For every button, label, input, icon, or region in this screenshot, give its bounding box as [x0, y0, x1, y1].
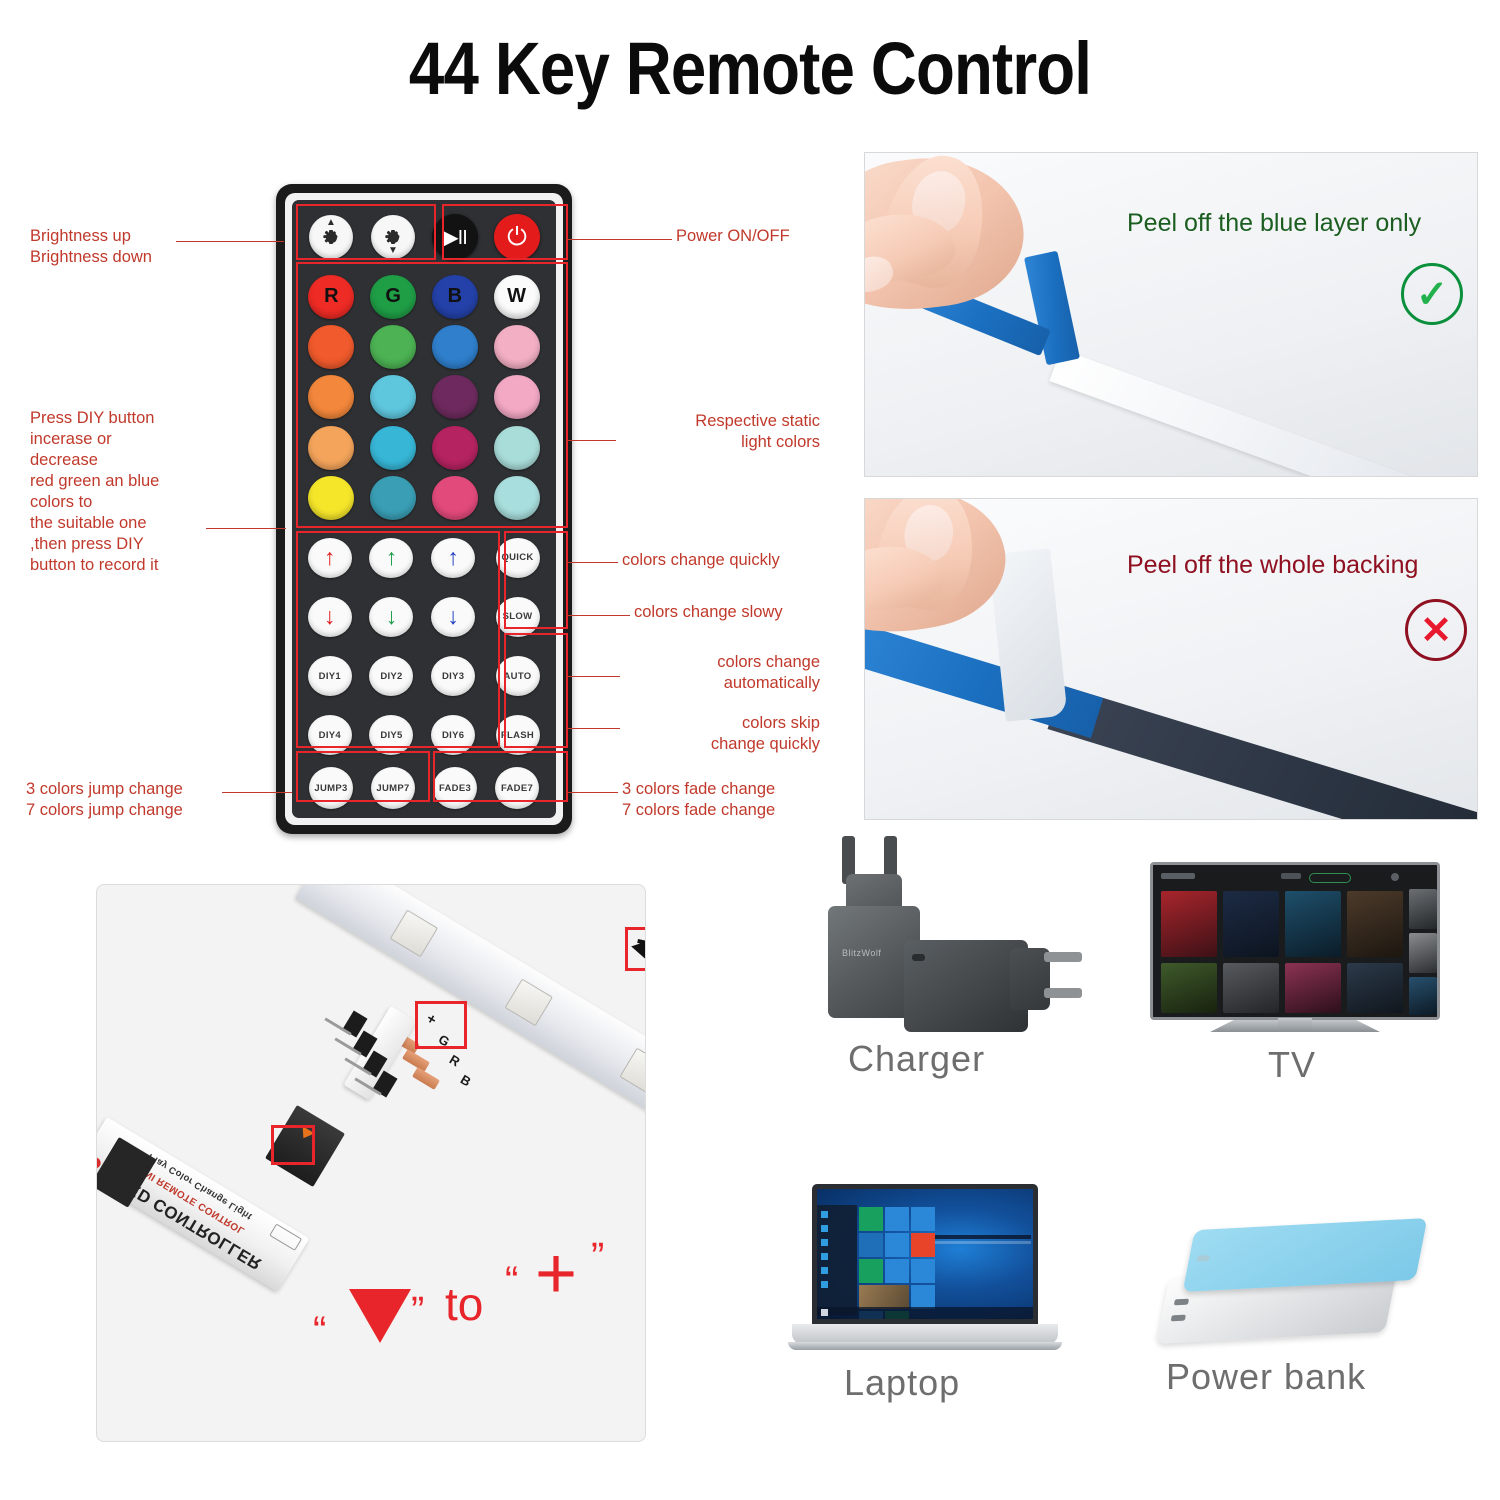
start-tile: [885, 1233, 909, 1257]
cross-icon: ✕: [1405, 599, 1467, 661]
function-button-diy6[interactable]: DIY6: [431, 715, 475, 755]
remote-bezel: ▲ ▼: [285, 193, 563, 825]
callout-auto: colors change automatically: [620, 652, 820, 694]
check-glyph: ✓: [1416, 272, 1448, 317]
function-area: ↑↑↑↓↓↓DIY1DIY2DIY3DIY4DIY5DIY6 QUICKSLOW…: [300, 526, 548, 764]
photo-bottom-caption: Peel off the whole backing: [1127, 551, 1418, 580]
color-button-label: G: [385, 285, 401, 308]
color-button-r5c2[interactable]: [370, 476, 416, 520]
start-menu-left-rail: [817, 1205, 857, 1315]
triangle-down-icon: [349, 1289, 411, 1343]
color-button-label: R: [324, 285, 338, 308]
device-tv: TV: [1150, 862, 1450, 1080]
led-chip: [505, 979, 553, 1027]
tv-poster: [1223, 963, 1279, 1013]
power-bank-port: [1171, 1315, 1186, 1322]
laptop-base: [792, 1324, 1058, 1344]
tv-poster: [1347, 963, 1403, 1013]
color-button-r3c2[interactable]: [370, 375, 416, 419]
function-left-grid: ↑↑↑↓↓↓DIY1DIY2DIY3DIY4DIY5DIY6: [300, 529, 483, 764]
bottom-button-row: JUMP3JUMP7 FADE3FADE7: [300, 764, 548, 812]
charger-usb-port: [912, 954, 925, 961]
remote-body: ▲ ▼: [276, 184, 572, 834]
power-button[interactable]: ⏻: [494, 214, 540, 260]
wallpaper-line: [935, 1235, 1031, 1239]
start-menu-icon: [821, 1281, 828, 1288]
power-bank-port: [1197, 1255, 1210, 1262]
laptop-label: Laptop: [844, 1362, 960, 1404]
start-button-icon: [821, 1309, 828, 1316]
quote-open-2: “: [505, 1259, 518, 1304]
start-tile: [859, 1233, 883, 1257]
charger-prong: [1044, 988, 1082, 998]
start-tile: [885, 1259, 909, 1283]
color-button-r1c2[interactable]: G: [370, 275, 416, 319]
remote-keypad-face: ▲ ▼: [292, 200, 556, 818]
tv-poster-rail: [1409, 977, 1437, 1015]
function-button-label: JUMP7: [376, 783, 409, 794]
function-button-slow[interactable]: SLOW: [496, 597, 540, 637]
arrow-icon: ↑: [386, 546, 398, 569]
tv-poster: [1161, 891, 1217, 957]
sun-up-icon: ▲: [316, 222, 346, 252]
function-button-diy5[interactable]: DIY5: [369, 715, 413, 755]
function-right-column: QUICKSLOWAUTOFLASH: [487, 529, 548, 764]
color-button-r5c4[interactable]: [494, 476, 540, 520]
color-button-r2c2[interactable]: [370, 325, 416, 369]
function-button-quick[interactable]: QUICK: [496, 538, 540, 578]
power-bank-label: Power bank: [1166, 1356, 1366, 1398]
function-button-label: DIY1: [319, 671, 341, 682]
color-button-r4c1[interactable]: [308, 426, 354, 470]
leader-quick: [566, 562, 618, 563]
start-menu-icon: [821, 1239, 828, 1246]
arrow-icon: ↑: [324, 546, 336, 569]
function-button-red-up[interactable]: ↑: [308, 538, 352, 578]
laptop-foot: [788, 1342, 1062, 1350]
start-tile-photo: [859, 1285, 909, 1309]
function-button-label: DIY5: [380, 730, 402, 741]
top-button-row: ▲ ▼: [300, 206, 548, 268]
pad-label-r: R: [447, 1052, 463, 1070]
color-button-r1c4[interactable]: W: [494, 275, 540, 319]
cross-glyph: ✕: [1420, 608, 1452, 653]
color-button-r3c1[interactable]: [308, 375, 354, 419]
function-button-diy3[interactable]: DIY3: [431, 656, 475, 696]
arrow-icon: ↓: [386, 605, 398, 628]
photo-peel-blue-layer: Peel off the blue layer only ✓: [864, 152, 1478, 477]
function-button-label: AUTO: [504, 671, 532, 682]
tv-app-title: [1161, 873, 1195, 879]
highlight-controller-triangle: [271, 1125, 315, 1165]
brightness-down-button[interactable]: ▼: [371, 215, 415, 259]
color-button-r2c4[interactable]: [494, 325, 540, 369]
function-button-label: QUICK: [501, 552, 533, 563]
tv-poster: [1161, 963, 1217, 1013]
tv-poster: [1223, 891, 1279, 957]
color-button-r5c1[interactable]: [308, 476, 354, 520]
color-button-grid: RGBW: [300, 268, 548, 526]
color-button-r2c1[interactable]: [308, 325, 354, 369]
charger-label: Charger: [848, 1038, 985, 1080]
function-button-green-down[interactable]: ↓: [369, 597, 413, 637]
start-menu-icon: [821, 1225, 828, 1232]
jump-group: JUMP3JUMP7: [300, 764, 424, 812]
start-tile: [859, 1207, 883, 1231]
remote-control: ▲ ▼: [276, 184, 572, 834]
function-button-diy1[interactable]: DIY1: [308, 656, 352, 696]
leader-fade: [566, 792, 618, 793]
tv-poster-rail: [1409, 933, 1437, 973]
leader-power: [566, 239, 672, 240]
color-button-r1c3[interactable]: B: [432, 275, 478, 319]
strip-direction-arrowhead-icon: [629, 938, 646, 959]
highlight-plus-pad: [415, 1001, 467, 1049]
arrow-icon: ↑: [447, 546, 459, 569]
quote-open-1: “: [313, 1309, 326, 1354]
start-tile: [911, 1233, 935, 1257]
check-icon: ✓: [1401, 263, 1463, 325]
quote-close-1: ”: [411, 1289, 424, 1334]
device-charger: BlitzWolf Charger: [800, 836, 1090, 1076]
callout-slow: colors change slowy: [634, 602, 894, 623]
start-menu-icon: [821, 1211, 828, 1218]
charger-brand-text: BlitzWolf: [842, 948, 881, 958]
function-button-label: DIY4: [319, 730, 341, 741]
callout-quick: colors change quickly: [622, 550, 882, 571]
function-button-label: DIY3: [442, 671, 464, 682]
callout-brightness: Brightness up Brightness down: [30, 226, 280, 268]
start-tile: [911, 1207, 935, 1231]
controller-port: [269, 1223, 302, 1250]
brightness-up-button[interactable]: ▲: [309, 215, 353, 259]
color-button-r3c3[interactable]: [432, 375, 478, 419]
brightness-group: ▲ ▼: [300, 215, 424, 259]
arrow-icon: ↓: [324, 605, 336, 628]
power-group: ▶II ⏻: [424, 214, 548, 260]
function-button-fade3[interactable]: FADE3: [433, 767, 477, 809]
function-button-auto[interactable]: AUTO: [496, 656, 540, 696]
color-button-label: W: [507, 285, 526, 308]
color-button-r4c4[interactable]: [494, 426, 540, 470]
device-power-bank: Power bank: [1150, 1196, 1480, 1408]
pad-label-b: B: [458, 1072, 474, 1090]
leader-diy: [206, 528, 286, 529]
callout-static-colors: Respective static light colors: [620, 411, 820, 453]
function-button-label: DIY6: [442, 730, 464, 741]
tv-stand-neck: [1278, 1018, 1312, 1032]
function-button-label: FADE3: [439, 783, 471, 794]
callout-flash: colors skip change quickly: [620, 713, 820, 755]
start-tile: [911, 1259, 935, 1283]
strip-annotation: “ ” to “ + ”: [309, 1237, 629, 1387]
function-button-flash[interactable]: FLASH: [496, 715, 540, 755]
annotation-to-word: to: [445, 1277, 483, 1331]
photo-top-caption: Peel off the blue layer only: [1127, 209, 1421, 238]
start-menu-icon: [821, 1253, 828, 1260]
play-pause-button[interactable]: ▶II: [432, 214, 478, 260]
tv-nav-pill: [1309, 873, 1351, 883]
power-icon: ⏻: [507, 225, 527, 250]
leader-flash: [566, 728, 620, 729]
function-button-diy4[interactable]: DIY4: [308, 715, 352, 755]
tv-poster-rail: [1409, 889, 1437, 929]
leader-brightness: [176, 241, 284, 242]
start-tile: [859, 1259, 883, 1283]
color-button-r4c2[interactable]: [370, 426, 416, 470]
quote-close-2: ”: [591, 1235, 604, 1280]
tv-label: TV: [1268, 1044, 1316, 1086]
strip-controller-panel: + G R B Play Color Change Light MINI REM…: [96, 884, 646, 1442]
start-tile: [911, 1285, 935, 1309]
start-menu-icon: [821, 1267, 828, 1274]
leader-static-colors: [566, 440, 616, 441]
color-button-r1c1[interactable]: R: [308, 275, 354, 319]
function-button-label: SLOW: [503, 611, 533, 622]
function-button-jump7[interactable]: JUMP7: [371, 767, 415, 809]
power-bank-port: [1174, 1299, 1189, 1306]
leader-slow: [566, 615, 630, 616]
callout-diy: Press DIY button incerase or decrease re…: [30, 408, 280, 576]
tv-poster: [1285, 891, 1341, 957]
tv-frame: [1150, 862, 1440, 1020]
device-laptop: Laptop: [788, 1184, 1088, 1408]
plus-glyph-icon: +: [535, 1233, 577, 1315]
wallpaper-line: [935, 1241, 1031, 1244]
leader-auto: [566, 676, 620, 677]
led-chip: [390, 910, 438, 958]
laptop-screen: [812, 1184, 1038, 1324]
taskbar: [817, 1307, 1038, 1319]
color-button-r3c4[interactable]: [494, 375, 540, 419]
function-button-label: FLASH: [501, 730, 534, 741]
function-button-label: FADE7: [501, 783, 533, 794]
function-button-blue-up[interactable]: ↑: [431, 538, 475, 578]
tv-poster: [1285, 963, 1341, 1013]
tv-nav-item: [1281, 873, 1301, 879]
callout-fade: 3 colors fade change 7 colors fade chang…: [622, 779, 882, 821]
led-chip: [619, 1048, 646, 1096]
sun-down-icon: ▼: [378, 222, 408, 252]
function-button-label: JUMP3: [314, 783, 347, 794]
photo-peel-whole-backing: Peel off the whole backing ✕: [864, 498, 1478, 820]
leader-jump: [222, 792, 292, 793]
color-button-label: B: [448, 285, 462, 308]
play-pause-icon: ▶II: [443, 225, 467, 250]
function-button-diy2[interactable]: DIY2: [369, 656, 413, 696]
tv-poster: [1347, 891, 1403, 957]
function-button-blue-down[interactable]: ↓: [431, 597, 475, 637]
color-button-r4c3[interactable]: [432, 426, 478, 470]
function-button-label: DIY2: [380, 671, 402, 682]
pad-b: [412, 1067, 440, 1090]
arrow-icon: ↓: [447, 605, 459, 628]
function-button-fade7[interactable]: FADE7: [495, 767, 539, 809]
function-button-jump3[interactable]: JUMP3: [309, 767, 353, 809]
page-title: 44 Key Remote Control: [105, 26, 1395, 111]
color-button-r5c3[interactable]: [432, 476, 478, 520]
start-tile: [885, 1207, 909, 1231]
callout-jump: 3 colors jump change 7 colors jump chang…: [26, 779, 266, 821]
function-button-green-up[interactable]: ↑: [369, 538, 413, 578]
tv-avatar-icon: [1391, 873, 1399, 881]
fade-group: FADE3FADE7: [424, 764, 548, 812]
charger-prong: [1044, 952, 1082, 962]
power-bank-blue: [1183, 1218, 1428, 1292]
function-button-red-down[interactable]: ↓: [308, 597, 352, 637]
color-button-r2c3[interactable]: [432, 325, 478, 369]
